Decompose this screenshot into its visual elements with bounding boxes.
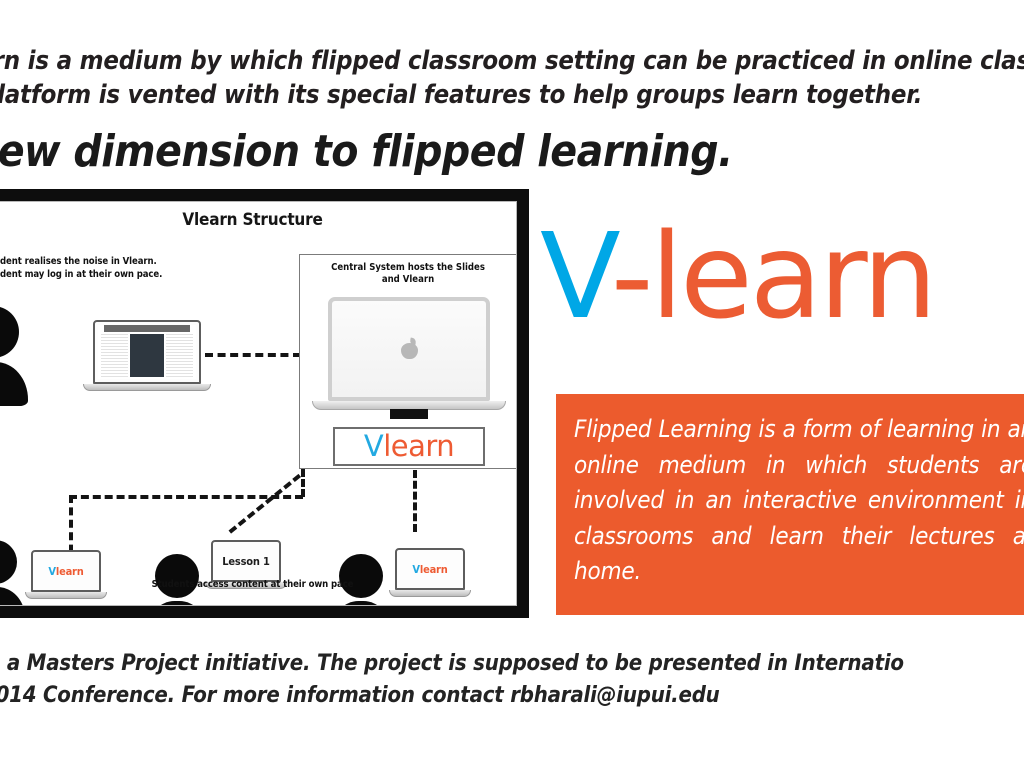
flipped-learning-definition-box: Flipped Learning is a form of learning i… [556, 394, 1024, 615]
news-masthead [104, 325, 190, 332]
wordmark-learn: -learn [611, 207, 935, 345]
flipped-learning-definition-text: Flipped Learning is a form of learning i… [574, 412, 1024, 590]
bottom-note-caption: Students access content at their own pac… [0, 579, 516, 592]
macbook-screen [328, 297, 490, 401]
central-title-line-2: and Vlearn [300, 274, 516, 286]
news-page-content [98, 325, 196, 379]
vlearn-logo-box: Vlearn [333, 427, 485, 466]
student-note-line-1: Student realises the noise in Vlearn. [0, 256, 162, 269]
laptop-base [25, 592, 108, 599]
apple-logo-icon [401, 339, 418, 359]
student-laptop-3-label: Vlearn [412, 563, 447, 576]
laptop-base [83, 384, 210, 391]
student-laptop-1: Vlearn [31, 550, 101, 599]
macbook-notch [390, 409, 428, 419]
vlearn-structure-diagram: Vlearn Structure Student realises the no… [0, 189, 529, 618]
central-system-title: Central System hosts the Slides and Vlea… [300, 262, 516, 286]
avatar-head [0, 540, 17, 584]
vlearn-logo-text: Vlearn [364, 432, 454, 461]
vlearn-logo-v: V [364, 429, 383, 463]
macbook-illustration [328, 297, 490, 410]
avatar-head [155, 554, 199, 598]
laptop-base [389, 590, 472, 597]
avatar-body [147, 601, 207, 606]
avatar-head [339, 554, 383, 598]
vlearn-wordmark: V-learn [540, 216, 934, 336]
footer-line-1: is a Masters Project initiative. The pro… [0, 648, 1024, 680]
student-note-caption: Student realises the noise in Vlearn. St… [0, 256, 162, 281]
news-laptop [93, 320, 201, 391]
news-column [101, 334, 128, 377]
student-laptop-2-screen: Lesson 1 [211, 540, 281, 582]
macbook-base [312, 401, 506, 410]
news-photo [130, 334, 164, 377]
page-headline: new dimension to flipped learning. [0, 126, 733, 178]
central-title-line-1: Central System hosts the Slides [300, 262, 516, 274]
avatar-body [0, 362, 28, 406]
footer-note: is a Masters Project initiative. The pro… [0, 648, 1024, 712]
student-note-line-2: Student may log in at their own pace. [0, 269, 162, 282]
news-laptop-screen [93, 320, 201, 384]
connector-laptop-to-central [205, 353, 301, 357]
diagram-canvas: Vlearn Structure Student realises the no… [0, 201, 517, 606]
avatar-head [0, 306, 19, 358]
connector-down-to-laptop-3 [413, 470, 417, 532]
apple-body [401, 343, 418, 359]
footer-line-2: 2014 Conference. For more information co… [0, 680, 1024, 712]
wordmark-v: V [540, 207, 611, 345]
connector-diagonal-to-lesson [229, 474, 301, 534]
intro-line-2: r platform is vented with its special fe… [0, 78, 1024, 112]
avatar-body [331, 601, 391, 606]
intro-paragraph: earn is a medium by which flipped classr… [0, 44, 1024, 112]
student-laptop-1-label: Vlearn [48, 565, 83, 578]
intro-line-1: earn is a medium by which flipped classr… [0, 44, 1024, 78]
diagram-title: Vlearn Structure [0, 210, 516, 230]
news-column [166, 334, 193, 377]
vlearn-logo-learn: learn [383, 429, 454, 463]
news-columns [98, 334, 196, 377]
central-system-card: Central System hosts the Slides and Vlea… [299, 254, 517, 469]
student-avatar-1 [0, 540, 27, 606]
student-avatar-top-left [0, 306, 31, 402]
connector-central-down-left [301, 469, 305, 497]
student-laptop-2-label: Lesson 1 [222, 555, 269, 568]
